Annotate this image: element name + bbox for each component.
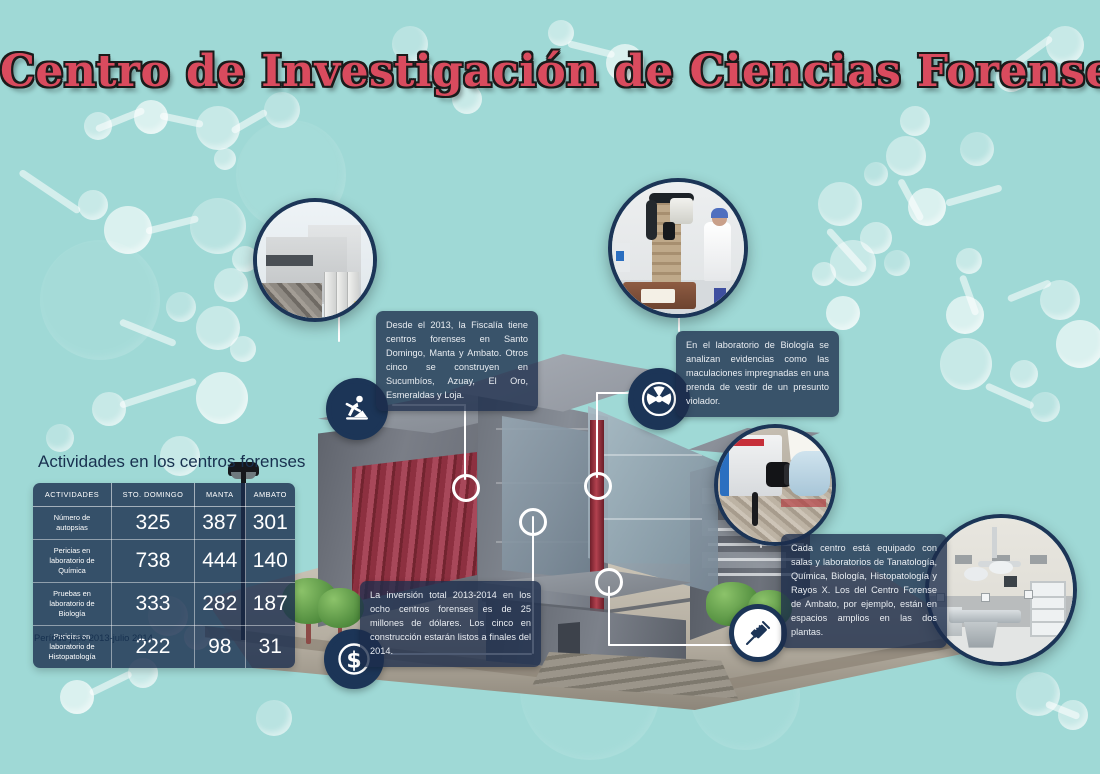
table-heading: Actividades en los centros forenses (38, 452, 305, 472)
table-row: Número de autopsias 325 387 301 (33, 507, 295, 540)
row-value-ambato: 140 (245, 540, 295, 583)
callout-investment: La inversión total 2013-2014 en los ocho… (360, 581, 541, 667)
node-syringe (595, 568, 623, 596)
photo-autopsy-room (925, 514, 1077, 666)
infographic-canvas: Centro de Investigación de Ciencias Fore… (0, 0, 1100, 774)
lead-syringe-h (608, 644, 748, 646)
table-row: Pruebas en laboratorio de Biología 333 2… (33, 582, 295, 625)
row-value-sto-domingo: 333 (112, 582, 195, 625)
building-glass-facade-left (502, 416, 598, 591)
node-radiation (584, 472, 612, 500)
callout-construction: Desde el 2013, la Fiscalía tiene centros… (376, 311, 538, 411)
row-activity-label: Número de autopsias (33, 507, 112, 540)
row-value-ambato: 187 (245, 582, 295, 625)
row-value-ambato: 31 (245, 625, 295, 667)
row-value-sto-domingo: 325 (112, 507, 195, 540)
callout-equipment: Cada centro está equipado con salas y la… (781, 534, 947, 648)
table-header-row: ACTIVIDADES STO. DOMINGO MANTA AMBATO (33, 483, 295, 507)
lead-construction-v (464, 404, 466, 480)
syringe-icon[interactable] (729, 604, 787, 662)
row-value-sto-domingo: 738 (112, 540, 195, 583)
page-title: Centro de Investigación de Ciencias Fore… (0, 46, 1100, 97)
callout-biology: En el laboratorio de Biología se analiza… (676, 331, 839, 417)
photo-building-construction (253, 198, 377, 322)
table-row: Pericias en laboratorio de Química 738 4… (33, 540, 295, 583)
table-col-manta: MANTA (194, 483, 245, 507)
row-value-manta: 98 (194, 625, 245, 667)
photo-forensic-light-source (714, 424, 836, 546)
table-col-activities: ACTIVIDADES (33, 483, 112, 507)
table-col-sto-domingo: STO. DOMINGO (112, 483, 195, 507)
row-value-manta: 387 (194, 507, 245, 540)
photo-xray-lab (608, 178, 748, 318)
node-money (519, 508, 547, 536)
row-value-manta: 444 (194, 540, 245, 583)
node-construction (452, 474, 480, 502)
table-col-ambato: AMBATO (245, 483, 295, 507)
lead-radiation-v (596, 392, 598, 478)
table-footnote: Período julio 2013-julio 2014 (34, 632, 153, 643)
row-activity-label: Pruebas en laboratorio de Biología (33, 582, 112, 625)
row-activity-label: Pericias en laboratorio de Química (33, 540, 112, 583)
row-value-manta: 282 (194, 582, 245, 625)
row-value-ambato: 301 (245, 507, 295, 540)
